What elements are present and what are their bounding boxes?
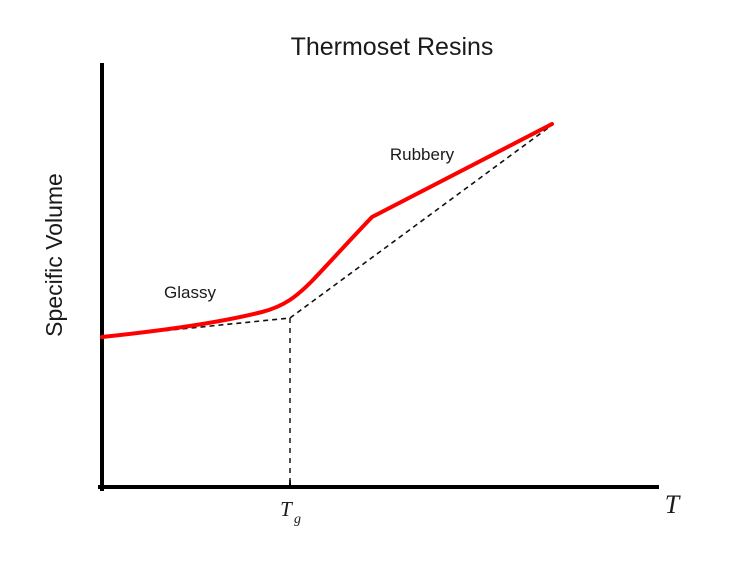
thermoset-resins-chart: Thermoset Resins Specific Volume T T g G… bbox=[0, 0, 750, 563]
y-axis-label: Specific Volume bbox=[41, 173, 67, 337]
tg-tick-label-subscript: g bbox=[294, 512, 301, 527]
annotation-rubbery: Rubbery bbox=[390, 145, 455, 164]
chart-title: Thermoset Resins bbox=[291, 33, 494, 61]
chart-figure: Thermoset Resins Specific Volume T T g G… bbox=[0, 0, 750, 563]
annotation-glassy: Glassy bbox=[164, 283, 216, 302]
chart-background bbox=[0, 0, 750, 563]
x-axis-label: T bbox=[665, 490, 681, 519]
tg-tick-label-main: T bbox=[280, 497, 293, 521]
